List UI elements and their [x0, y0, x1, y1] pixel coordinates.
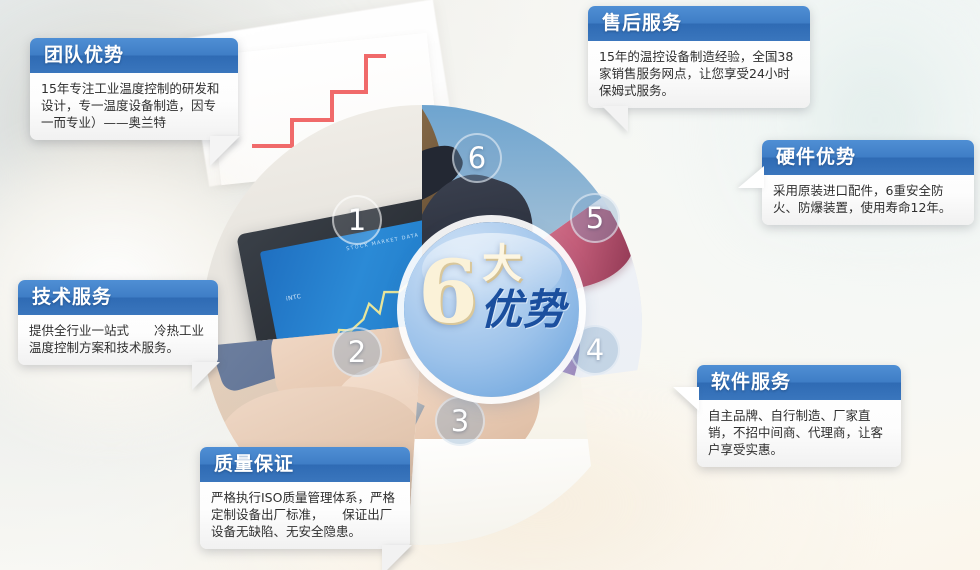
callout-team-pointer: [210, 136, 240, 166]
callout-after-sales-title: 售后服务: [588, 6, 810, 41]
callout-hardware-pointer: [738, 166, 764, 188]
callout-team-body: 15年专注工业温度控制的研发和设计，专一温度设备制造，因专一而专业）——奥兰特: [30, 73, 238, 140]
segment-number-4[interactable]: 4: [570, 325, 620, 375]
segment-number-3-text: 3: [451, 404, 469, 438]
callout-tech-pointer: [192, 362, 220, 390]
segment-number-2-text: 2: [348, 335, 366, 369]
center-number: 6: [418, 250, 478, 336]
callout-tech-body: 提供全行业一站式 冷热工业温度控制方案和技术服务。: [18, 315, 218, 365]
callout-hardware-body: 采用原装进口配件，6重安全防火、防爆装置，使用寿命12年。: [762, 175, 974, 225]
callout-after-sales-pointer: [602, 106, 628, 132]
segment-number-1[interactable]: 1: [332, 195, 382, 245]
callout-software-body: 自主品牌、自行制造、厂家直销，不招中间商、代理商，让客户享受实惠。: [697, 400, 901, 467]
segment-number-6[interactable]: 6: [452, 133, 502, 183]
callout-after-sales-body: 15年的温控设备制造经验，全国38家销售服务网点，让您享受24小时保姆式服务。: [588, 41, 810, 108]
callout-quality-body: 严格执行ISO质量管理体系，严格定制设备出厂标准， 保证出厂设备无缺陷、无安全隐…: [200, 482, 410, 549]
callout-software[interactable]: 软件服务 自主品牌、自行制造、厂家直销，不招中间商、代理商，让客户享受实惠。: [697, 365, 901, 467]
callout-team-title: 团队优势: [30, 38, 238, 73]
center-big-word: 大: [482, 244, 522, 284]
center-sub-word: 优势: [480, 288, 566, 332]
callout-tech-title: 技术服务: [18, 280, 218, 315]
infographic-canvas: STOCK MARKET DATA iNTC: [0, 0, 980, 570]
segment-number-6-text: 6: [468, 141, 486, 175]
segment-number-2[interactable]: 2: [332, 327, 382, 377]
segment-number-3[interactable]: 3: [435, 396, 485, 446]
callout-quality[interactable]: 质量保证 严格执行ISO质量管理体系，严格定制设备出厂标准， 保证出厂设备无缺陷…: [200, 447, 410, 549]
segment-number-5[interactable]: 5: [570, 193, 620, 243]
segment-number-4-text: 4: [586, 333, 604, 367]
callout-tech[interactable]: 技术服务 提供全行业一站式 冷热工业温度控制方案和技术服务。: [18, 280, 218, 365]
segment-number-5-text: 5: [586, 201, 604, 235]
segment-number-1-text: 1: [348, 203, 366, 237]
callout-hardware-title: 硬件优势: [762, 140, 974, 175]
callout-quality-pointer: [382, 545, 412, 570]
callout-software-pointer: [673, 387, 699, 411]
center-badge[interactable]: 6 大 优势: [404, 222, 579, 397]
callout-hardware[interactable]: 硬件优势 采用原装进口配件，6重安全防火、防爆装置，使用寿命12年。: [762, 140, 974, 225]
callout-quality-title: 质量保证: [200, 447, 410, 482]
callout-after-sales[interactable]: 售后服务 15年的温控设备制造经验，全国38家销售服务网点，让您享受24小时保姆…: [588, 6, 810, 108]
callout-software-title: 软件服务: [697, 365, 901, 400]
callout-team[interactable]: 团队优势 15年专注工业温度控制的研发和设计，专一温度设备制造，因专一而专业）—…: [30, 38, 238, 140]
